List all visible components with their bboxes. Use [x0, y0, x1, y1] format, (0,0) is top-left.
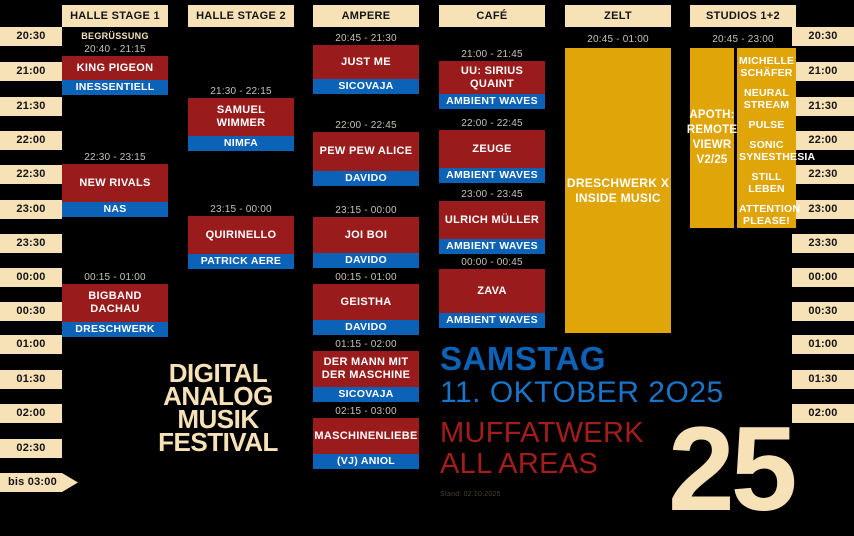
event-support-act: AMBIENT WAVES: [439, 168, 545, 183]
event-ampere-geistha[interactable]: 00:15 - 01:00 GEISTHA DAVIDO: [313, 272, 419, 335]
stage-header-halle-stage-1[interactable]: HALLE STAGE 1: [62, 5, 168, 27]
event-support-act: NAS: [62, 202, 168, 217]
studios-act-sonic-synesthesia: SONIC SYNESTHESIA: [739, 139, 794, 163]
event-support-act: DAVIDO: [313, 320, 419, 335]
event-act: ULRICH MÜLLER: [439, 201, 545, 239]
event-zelt-time: 20:45 - 01:00: [565, 34, 671, 46]
studios-act-attention-please: ATTENTION PLEASE!: [739, 203, 794, 227]
event-act: UU: SIRIUS QUAINT: [439, 61, 545, 94]
stage-header-zelt[interactable]: ZELT: [565, 5, 671, 27]
event-studios-time: 20:45 - 23:00: [690, 34, 796, 46]
event-zelt-dreschwerk-x-inside-music[interactable]: DRESCHWERK X INSIDE MUSIC: [565, 48, 671, 333]
event-time: 23:15 - 00:00: [188, 204, 294, 216]
time-label-left-2330: 23:30: [0, 234, 62, 253]
footer-stand-date: Stand: 02.10.2025: [440, 491, 501, 498]
event-ampere-pew-pew-alice[interactable]: 22:00 - 22:45 PEW PEW ALICE DAVIDO: [313, 120, 419, 186]
time-label-end-bis-0300: bis 03:00: [0, 473, 78, 492]
event-halle1-bigband-dachau[interactable]: 00:15 - 01:00 BIGBAND DACHAU DRESCHWERK: [62, 272, 168, 337]
event-act: SAMUEL WIMMER: [188, 98, 294, 136]
time-label-left-2230: 22:30: [0, 165, 62, 184]
event-act: APOTH: REMOTE VIEWR V2/25: [687, 108, 737, 168]
event-time: 00:15 - 01:00: [313, 272, 419, 284]
time-label-right-0100: 01:00: [792, 335, 854, 354]
time-label-right-2130: 21:30: [792, 97, 854, 116]
time-label-right-2230: 22:30: [792, 165, 854, 184]
event-act: DRESCHWERK X INSIDE MUSIC: [565, 176, 671, 206]
title-day: SAMSTAG: [440, 342, 724, 376]
time-label-left-0030: 00:30: [0, 302, 62, 321]
event-time: 22:00 - 22:45: [439, 118, 545, 130]
event-act: PEW PEW ALICE: [313, 132, 419, 171]
event-ampere-maschinenliebe[interactable]: 02:15 - 03:00 MASCHINENLIEBE (VJ) ANIOL: [313, 406, 419, 469]
event-support-act: INESSENTIELL: [62, 80, 168, 95]
event-support-act: AMBIENT WAVES: [439, 313, 545, 328]
event-studios-apoth-remote-viewr[interactable]: APOTH: REMOTE VIEWR V2/25: [690, 48, 734, 228]
event-support-act: SICOVAJA: [313, 79, 419, 94]
event-time: 23:15 - 00:00: [313, 205, 419, 217]
event-ampere-joi-boi[interactable]: 23:15 - 00:00 JOI BOI DAVIDO: [313, 205, 419, 268]
event-time: 20:40 - 21:15: [62, 44, 168, 56]
event-time: 21:30 - 22:15: [188, 86, 294, 98]
stage-header-studios-1-2[interactable]: STUDIOS 1+2: [690, 5, 796, 27]
event-time: 22:00 - 22:45: [313, 120, 419, 132]
time-label-left-2200: 22:00: [0, 131, 62, 150]
event-label: BEGRÜSSUNG: [62, 30, 168, 43]
stage-header-ampere[interactable]: AMPERE: [313, 5, 419, 27]
event-act: NEW RIVALS: [62, 164, 168, 202]
event-support-act: AMBIENT WAVES: [439, 94, 545, 109]
event-studios-act-list[interactable]: MICHELLE SCHÄFER NEURAL STREAM PULSE SON…: [737, 48, 796, 228]
event-support-act: (VJ) ANIOL: [313, 454, 419, 469]
event-act: DER MANN MIT DER MASCHINE: [313, 351, 419, 387]
event-cafe-ulrich-mueller[interactable]: 23:00 - 23:45 ULRICH MÜLLER AMBIENT WAVE…: [439, 189, 545, 254]
time-label-left-0130: 01:30: [0, 370, 62, 389]
time-label-right-2330: 23:30: [792, 234, 854, 253]
event-halle2-quirinello[interactable]: 23:15 - 00:00 QUIRINELLO PATRICK AERE: [188, 204, 294, 269]
event-support-act: AMBIENT WAVES: [439, 239, 545, 254]
time-label-right-2030: 20:30: [792, 27, 854, 46]
event-act: ZAVA: [439, 269, 545, 313]
event-cafe-zeuge[interactable]: 22:00 - 22:45 ZEUGE AMBIENT WAVES: [439, 118, 545, 183]
festival-logo: DIGITAL ANALOG MUSIK FESTIVAL: [128, 362, 308, 454]
event-halle1-new-rivals[interactable]: 22:30 - 23:15 NEW RIVALS NAS: [62, 152, 168, 217]
event-act: KING PIGEON: [62, 56, 168, 80]
event-support-act: NIMFA: [188, 136, 294, 151]
time-label-left-0100: 01:00: [0, 335, 62, 354]
time-label-right-2300: 23:00: [792, 200, 854, 219]
event-halle1-king-pigeon[interactable]: 20:40 - 21:15 KING PIGEON INESSENTIELL: [62, 44, 168, 95]
studios-act-pulse: PULSE: [739, 119, 794, 131]
event-support-act: DRESCHWERK: [62, 322, 168, 337]
festival-schedule-poster: HALLE STAGE 1 HALLE STAGE 2 AMPERE CAFÉ …: [0, 0, 854, 500]
time-label-right-0030: 00:30: [792, 302, 854, 321]
event-halle1-begruessung[interactable]: BEGRÜSSUNG: [62, 30, 168, 43]
event-time: 22:30 - 23:15: [62, 152, 168, 164]
time-label-left-2130: 21:30: [0, 97, 62, 116]
time-label-left-0230: 02:30: [0, 439, 62, 458]
event-cafe-zava[interactable]: 00:00 - 00:45 ZAVA AMBIENT WAVES: [439, 257, 545, 328]
event-support-act: SICOVAJA: [313, 387, 419, 402]
event-ampere-der-mann-mit-der-maschine[interactable]: 01:15 - 02:00 DER MANN MIT DER MASCHINE …: [313, 339, 419, 402]
event-cafe-uu-sirius-quaint[interactable]: 21:00 - 21:45 UU: SIRIUS QUAINT AMBIENT …: [439, 49, 545, 109]
time-label-right-2100: 21:00: [792, 62, 854, 81]
event-act: JUST ME: [313, 45, 419, 79]
studios-act-michelle-schaefer: MICHELLE SCHÄFER: [739, 55, 794, 79]
time-label-right-0200: 02:00: [792, 404, 854, 423]
time-label-left-2100: 21:00: [0, 62, 62, 81]
event-act: ZEUGE: [439, 130, 545, 168]
event-time: 00:00 - 00:45: [439, 257, 545, 269]
event-support-act: DAVIDO: [313, 253, 419, 268]
time-label-left-0200: 02:00: [0, 404, 62, 423]
event-act: BIGBAND DACHAU: [62, 284, 168, 322]
stage-header-halle-stage-2[interactable]: HALLE STAGE 2: [188, 5, 294, 27]
time-label-right-2200: 22:00: [792, 131, 854, 150]
time-label-right-0130: 01:30: [792, 370, 854, 389]
event-halle2-samuel-wimmer[interactable]: 21:30 - 22:15 SAMUEL WIMMER NIMFA: [188, 86, 294, 151]
event-time: 20:45 - 21:30: [313, 33, 419, 45]
stage-header-cafe[interactable]: CAFÉ: [439, 5, 545, 27]
event-act: QUIRINELLO: [188, 216, 294, 254]
event-support-act: PATRICK AERE: [188, 254, 294, 269]
event-support-act: DAVIDO: [313, 171, 419, 186]
year-numeral-badge: 25: [668, 414, 793, 524]
time-label-left-2300: 23:00: [0, 200, 62, 219]
studios-act-neural-stream: NEURAL STREAM: [739, 87, 794, 111]
event-time: 01:15 - 02:00: [313, 339, 419, 351]
event-time: 23:00 - 23:45: [439, 189, 545, 201]
event-time: 02:15 - 03:00: [313, 406, 419, 418]
event-time: 00:15 - 01:00: [62, 272, 168, 284]
event-ampere-just-me[interactable]: 20:45 - 21:30 JUST ME SICOVAJA: [313, 33, 419, 94]
event-act: JOI BOI: [313, 217, 419, 253]
time-label-right-0000: 00:00: [792, 268, 854, 287]
studios-act-still-leben: STILL LEBEN: [739, 171, 794, 195]
time-label-left-0000: 00:00: [0, 268, 62, 287]
event-act: MASCHINENLIEBE: [313, 418, 419, 454]
logo-line-festival: FESTIVAL: [128, 431, 308, 454]
time-label-left-2030: 20:30: [0, 27, 62, 46]
event-act: GEISTHA: [313, 284, 419, 320]
event-time: 21:00 - 21:45: [439, 49, 545, 61]
